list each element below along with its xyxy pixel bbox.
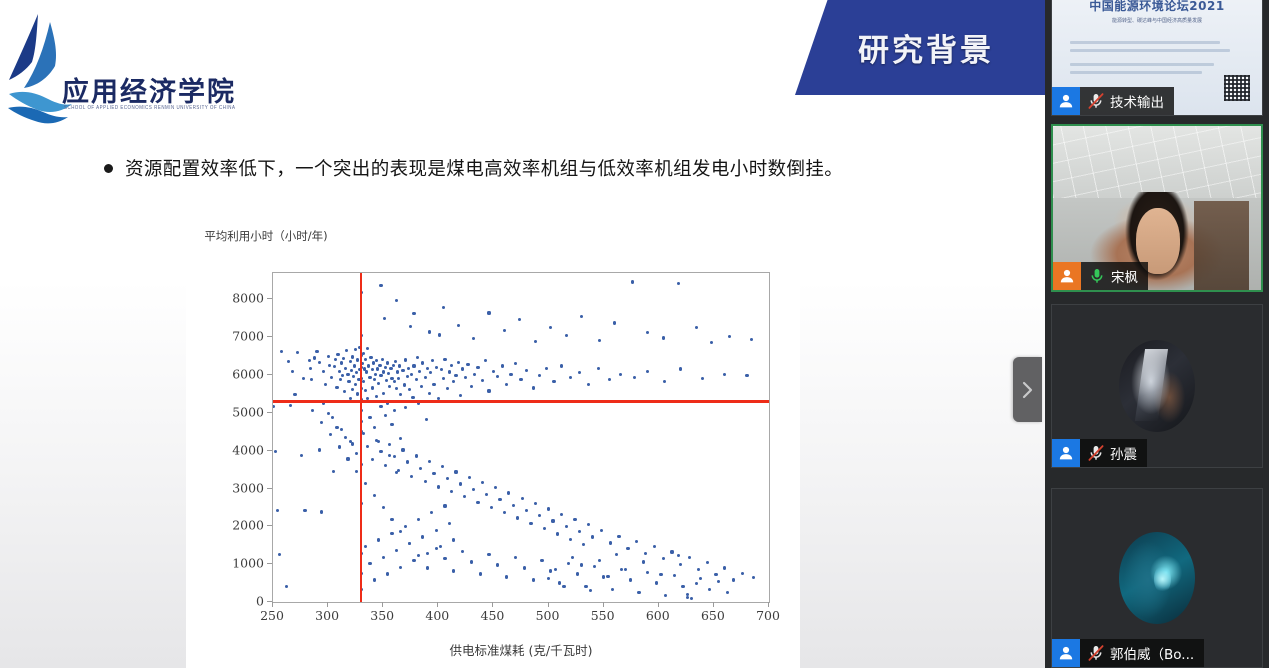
scatter-point xyxy=(397,469,400,472)
scatter-point xyxy=(600,529,603,532)
scatter-point xyxy=(637,591,640,594)
nameplate: 技术输出 xyxy=(1052,87,1174,115)
scatter-point xyxy=(368,562,371,565)
scatter-point xyxy=(503,329,506,332)
scatter-point xyxy=(547,507,550,510)
mic-active-icon xyxy=(1087,266,1107,286)
scatter-point xyxy=(443,504,446,507)
avatar xyxy=(1119,532,1195,624)
scatter-point xyxy=(459,394,462,397)
scatter-point xyxy=(578,530,581,533)
scatter-point xyxy=(681,585,684,588)
scatter-point xyxy=(375,395,378,398)
scatter-point xyxy=(578,371,581,374)
scatter-point xyxy=(593,565,596,568)
participant-tile-3[interactable]: 孙震 xyxy=(1051,304,1263,468)
scatter-point xyxy=(472,488,475,491)
scatter-point xyxy=(403,383,406,386)
bullet-dot-icon xyxy=(104,164,113,173)
scatter-chart: 平均利用小时（小时/年) 010002000300040005000600070… xyxy=(186,208,800,668)
scatter-point xyxy=(534,502,537,505)
scatter-point xyxy=(415,454,418,457)
scatter-point xyxy=(452,538,455,541)
x-tick-label: 600 xyxy=(636,608,680,623)
scatter-point xyxy=(389,367,392,370)
scatter-point xyxy=(448,522,451,525)
scatter-point xyxy=(690,597,693,600)
scatter-point xyxy=(496,563,499,566)
scatter-point xyxy=(441,465,444,468)
scatter-point xyxy=(336,353,339,356)
scatter-point xyxy=(582,543,585,546)
scatter-point xyxy=(424,376,427,379)
scatter-point xyxy=(503,511,506,514)
scatter-point xyxy=(459,482,462,485)
scatter-point xyxy=(532,578,535,581)
x-tick-mark xyxy=(768,602,769,607)
scatter-point xyxy=(461,367,464,370)
scatter-point xyxy=(331,416,334,419)
participant-name: 郭伯威（Bo... xyxy=(1110,643,1194,663)
scatter-point xyxy=(446,387,449,390)
scatter-point xyxy=(602,575,605,578)
scatter-point xyxy=(388,385,391,388)
scatter-point xyxy=(571,556,574,559)
nameplate: 郭伯威（Bo... xyxy=(1052,639,1204,667)
scatter-point xyxy=(454,374,457,377)
x-tick-mark xyxy=(382,602,383,607)
scatter-point xyxy=(466,363,469,366)
section-title: 研究背景 xyxy=(846,25,994,70)
scatter-point xyxy=(501,364,504,367)
scatter-point xyxy=(664,594,667,597)
scatter-point xyxy=(538,374,541,377)
scatter-point xyxy=(670,550,673,553)
participant-filmstrip[interactable]: 中国能源环境论坛2021 能源转型、碳达峰与中国经济高质量发展 xyxy=(1045,0,1269,668)
x-tick-mark xyxy=(548,602,549,607)
scatter-point xyxy=(338,370,341,373)
scatter-point xyxy=(620,568,623,571)
scatter-point xyxy=(565,334,568,337)
scatter-point xyxy=(560,364,563,367)
scatter-point xyxy=(401,448,404,451)
scatter-point xyxy=(505,575,508,578)
scatter-point xyxy=(418,370,421,373)
scatter-point xyxy=(417,554,420,557)
scatter-point xyxy=(726,591,729,594)
scatter-point xyxy=(435,529,438,532)
scatter-point xyxy=(498,498,501,501)
school-logo: 应用经济学院 SCHOOL OF APPLIED ECONOMICS RENMI… xyxy=(4,8,219,126)
scatter-point xyxy=(372,361,375,364)
scatter-point xyxy=(318,361,321,364)
scatter-point xyxy=(606,575,609,578)
scatter-point xyxy=(342,357,345,360)
scatter-point xyxy=(293,393,296,396)
scatter-point xyxy=(472,337,475,340)
participant-name: 孙震 xyxy=(1110,443,1137,463)
scatter-point xyxy=(373,578,376,581)
scatter-point xyxy=(384,366,387,369)
scatter-point xyxy=(457,324,460,327)
scatter-point xyxy=(521,497,524,500)
y-tick-mark xyxy=(267,450,272,451)
scatter-point xyxy=(591,535,594,538)
scatter-point xyxy=(392,364,395,367)
scatter-point xyxy=(686,596,689,599)
scatter-point xyxy=(569,376,572,379)
y-tick-mark xyxy=(267,412,272,413)
scatter-point xyxy=(404,358,407,361)
nameplate: 孙震 xyxy=(1052,439,1147,467)
scatter-point xyxy=(274,450,277,453)
scatter-point xyxy=(429,371,432,374)
scatter-point xyxy=(388,443,391,446)
scatter-point xyxy=(644,552,647,555)
scatter-point xyxy=(396,370,399,373)
scatter-point xyxy=(492,370,495,373)
scatter-point xyxy=(315,350,318,353)
scatter-point xyxy=(479,572,482,575)
scatter-point xyxy=(407,367,410,370)
x-tick-mark xyxy=(492,602,493,607)
scatter-point xyxy=(476,366,479,369)
scatter-point xyxy=(386,361,389,364)
scatter-point xyxy=(341,374,344,377)
scatter-point xyxy=(381,358,384,361)
chevron-right-icon xyxy=(1021,380,1034,400)
scatter-point xyxy=(345,349,348,352)
scatter-point xyxy=(567,562,570,565)
scatter-point xyxy=(354,383,357,386)
scatter-point xyxy=(443,358,446,361)
scatter-point xyxy=(432,472,435,475)
scatter-point xyxy=(377,382,380,385)
scatter-point xyxy=(723,373,726,376)
scatter-point xyxy=(584,585,587,588)
scatter-point xyxy=(695,326,698,329)
chart-plot-area xyxy=(272,272,770,603)
scatter-point xyxy=(547,577,550,580)
scatter-point xyxy=(371,368,374,371)
scatter-point xyxy=(446,477,449,480)
scatter-point xyxy=(545,367,548,370)
chart-y-axis-label: 平均利用小时（小时/年) xyxy=(200,228,332,245)
scatter-point xyxy=(463,495,466,498)
scatter-point xyxy=(378,364,381,367)
scatter-point xyxy=(633,376,636,379)
scatter-point xyxy=(750,338,753,341)
scatter-point xyxy=(390,518,393,521)
scatter-point xyxy=(717,580,720,583)
x-tick-label: 300 xyxy=(305,608,349,623)
scatter-point xyxy=(514,362,517,365)
scatter-point xyxy=(364,545,367,548)
nameplate: 宋枫 xyxy=(1053,262,1148,290)
scatter-point xyxy=(366,347,369,350)
scatter-point xyxy=(335,426,338,429)
scatter-point xyxy=(377,538,380,541)
scatter-point xyxy=(340,361,343,364)
scatter-point xyxy=(435,366,438,369)
x-tick-label: 500 xyxy=(526,608,570,623)
scatter-point xyxy=(679,367,682,370)
scatter-point xyxy=(448,370,451,373)
x-tick-mark xyxy=(327,602,328,607)
scatter-point xyxy=(289,404,292,407)
y-tick-mark xyxy=(267,336,272,337)
scatter-point xyxy=(438,333,441,336)
scatter-point xyxy=(412,559,415,562)
scatter-point xyxy=(412,364,415,367)
scatter-point xyxy=(390,423,393,426)
scatter-point xyxy=(464,376,467,379)
scatter-point xyxy=(653,545,656,548)
scatter-point xyxy=(311,409,314,412)
scatter-point xyxy=(395,299,398,302)
scatter-point xyxy=(617,535,620,538)
scatter-point xyxy=(383,317,386,320)
scatter-point xyxy=(573,518,576,521)
qr-code-icon xyxy=(1224,75,1250,101)
y-tick-label: 2000 xyxy=(216,518,264,533)
scatter-point xyxy=(415,378,418,381)
bullet-text: 资源配置效率低下，一个突出的表现是煤电高效率机组与低效率机组发电小时数倒挂。 xyxy=(125,155,843,181)
scatter-point xyxy=(679,563,682,566)
scatter-point xyxy=(426,566,429,569)
scatter-point xyxy=(346,373,349,376)
scatter-point xyxy=(349,360,352,363)
scatter-point xyxy=(401,369,404,372)
scatter-point xyxy=(387,372,390,375)
scatter-point xyxy=(302,377,305,380)
scatter-point xyxy=(365,370,368,373)
collapse-filmstrip-button[interactable] xyxy=(1013,357,1042,422)
scatter-point xyxy=(646,571,649,574)
scatter-point xyxy=(333,365,336,368)
scatter-point xyxy=(399,437,402,440)
y-tick-label: 5000 xyxy=(216,404,264,419)
scatter-point xyxy=(425,418,428,421)
scatter-point xyxy=(426,367,429,370)
scatter-point xyxy=(428,330,431,333)
scatter-point xyxy=(745,374,748,377)
scatter-point xyxy=(428,392,431,395)
scatter-point xyxy=(399,530,402,533)
scatter-point xyxy=(485,493,488,496)
scatter-point xyxy=(450,490,453,493)
scatter-point xyxy=(723,566,726,569)
scatter-point xyxy=(285,585,288,588)
scatter-point xyxy=(514,556,517,559)
y-tick-mark xyxy=(267,525,272,526)
scatter-point xyxy=(291,370,294,373)
scatter-point xyxy=(728,335,731,338)
scatter-point xyxy=(677,282,680,285)
scatter-point xyxy=(629,578,632,581)
scatter-point xyxy=(330,376,333,379)
scatter-point xyxy=(468,476,471,479)
scatter-point xyxy=(313,356,316,359)
scatter-point xyxy=(390,532,393,535)
scatter-point xyxy=(334,358,337,361)
scatter-point xyxy=(450,364,453,367)
participant-tile-1[interactable]: 中国能源环境论坛2021 能源转型、碳达峰与中国经济高质量发展 xyxy=(1051,0,1263,116)
scatter-point xyxy=(382,556,385,559)
participant-avatar-icon xyxy=(1053,262,1081,290)
scatter-point xyxy=(529,522,532,525)
scatter-point xyxy=(430,511,433,514)
scatter-point xyxy=(611,588,614,591)
scatter-point xyxy=(386,572,389,575)
logo-name-en: SCHOOL OF APPLIED ECONOMICS RENMIN UNIVE… xyxy=(64,104,235,110)
scatter-point xyxy=(278,553,281,556)
scatter-point xyxy=(366,445,369,448)
scatter-point xyxy=(619,373,622,376)
scatter-point xyxy=(576,572,579,575)
scatter-point xyxy=(327,355,330,358)
scatter-point xyxy=(518,318,521,321)
scatter-point xyxy=(287,360,290,363)
scatter-point xyxy=(375,359,378,362)
scatter-point xyxy=(752,576,755,579)
scatter-point xyxy=(349,440,352,443)
scatter-point xyxy=(688,556,691,559)
scatter-point xyxy=(701,377,704,380)
scatter-point xyxy=(308,359,311,362)
x-tick-mark xyxy=(603,602,604,607)
scatter-point xyxy=(421,535,424,538)
mic-muted-icon xyxy=(1086,91,1106,111)
x-tick-label: 250 xyxy=(250,608,294,623)
scatter-point xyxy=(352,375,355,378)
scatter-point xyxy=(663,380,666,383)
scatter-point xyxy=(272,405,275,408)
scatter-point xyxy=(487,389,490,392)
scatter-point xyxy=(276,509,279,512)
scatter-point xyxy=(347,380,350,383)
scatter-point xyxy=(412,312,415,315)
scatter-point xyxy=(598,339,601,342)
scatter-point xyxy=(560,513,563,516)
scatter-point xyxy=(549,326,552,329)
y-tick-mark xyxy=(267,374,272,375)
scatter-point xyxy=(442,306,445,309)
scatter-point xyxy=(646,370,649,373)
scatter-point xyxy=(350,369,353,372)
scatter-point xyxy=(320,421,323,424)
participant-name: 技术输出 xyxy=(1110,91,1164,111)
scatter-point xyxy=(677,554,680,557)
scatter-point xyxy=(565,525,568,528)
scatter-point xyxy=(406,460,409,463)
scatter-point xyxy=(382,392,385,395)
scatter-point xyxy=(375,439,378,442)
scatter-point xyxy=(344,367,347,370)
y-tick-label: 6000 xyxy=(216,367,264,382)
participant-tile-2[interactable]: 宋枫 xyxy=(1051,124,1263,292)
scatter-point xyxy=(322,370,325,373)
scatter-point xyxy=(613,321,616,324)
scatter-point xyxy=(558,581,561,584)
scatter-point xyxy=(519,378,522,381)
scatter-point xyxy=(320,510,323,513)
scatter-point xyxy=(626,547,629,550)
y-tick-mark xyxy=(267,563,272,564)
scatter-point xyxy=(609,541,612,544)
scatter-point xyxy=(318,448,321,451)
scatter-point xyxy=(710,341,713,344)
scatter-point xyxy=(556,532,559,535)
scatter-point xyxy=(374,373,377,376)
scatter-point xyxy=(379,450,382,453)
scatter-point xyxy=(390,377,393,380)
x-tick-mark xyxy=(437,602,438,607)
scatter-point xyxy=(340,428,343,431)
scatter-point xyxy=(443,557,446,560)
scatter-point xyxy=(382,370,385,373)
y-tick-mark xyxy=(267,488,272,489)
scatter-point xyxy=(300,454,303,457)
scatter-point xyxy=(338,445,341,448)
scatter-point xyxy=(699,577,702,580)
scatter-point xyxy=(303,509,306,512)
scatter-point xyxy=(393,380,396,383)
scatter-point xyxy=(642,560,645,563)
y-tick-label: 0 xyxy=(216,594,264,609)
scatter-point xyxy=(549,569,552,572)
scatter-point xyxy=(355,452,358,455)
scatter-point xyxy=(368,416,371,419)
scatter-point xyxy=(335,386,338,389)
scatter-point xyxy=(525,369,528,372)
participant-avatar-icon xyxy=(1052,87,1080,115)
scatter-point xyxy=(369,356,372,359)
y-tick-label: 4000 xyxy=(216,442,264,457)
scatter-point xyxy=(686,593,689,596)
scatter-point xyxy=(473,373,476,376)
scatter-point xyxy=(388,454,391,457)
x-tick-label: 550 xyxy=(581,608,625,623)
scatter-point xyxy=(382,506,385,509)
scatter-point xyxy=(394,360,397,363)
scatter-point xyxy=(343,390,346,393)
scatter-point xyxy=(332,470,335,473)
scatter-point xyxy=(440,368,443,371)
scatter-point xyxy=(353,364,356,367)
scatter-point xyxy=(706,561,709,564)
scatter-point xyxy=(655,581,658,584)
scatter-point xyxy=(523,566,526,569)
scatter-point xyxy=(404,525,407,528)
scatter-point xyxy=(673,574,676,577)
scatter-point xyxy=(507,491,510,494)
scatter-point xyxy=(404,406,407,409)
scatter-point xyxy=(461,550,464,553)
scatter-point xyxy=(354,348,357,351)
scatter-point xyxy=(296,351,299,354)
scatter-point xyxy=(399,566,402,569)
scatter-point xyxy=(355,470,358,473)
participant-tile-4[interactable]: 郭伯威（Bo... xyxy=(1051,488,1263,668)
scatter-point xyxy=(355,371,358,374)
scatter-point xyxy=(351,355,354,358)
scatter-point xyxy=(615,553,618,556)
scatter-point xyxy=(395,549,398,552)
scatter-point xyxy=(646,331,649,334)
scatter-point xyxy=(662,336,665,339)
scatter-point xyxy=(310,378,313,381)
